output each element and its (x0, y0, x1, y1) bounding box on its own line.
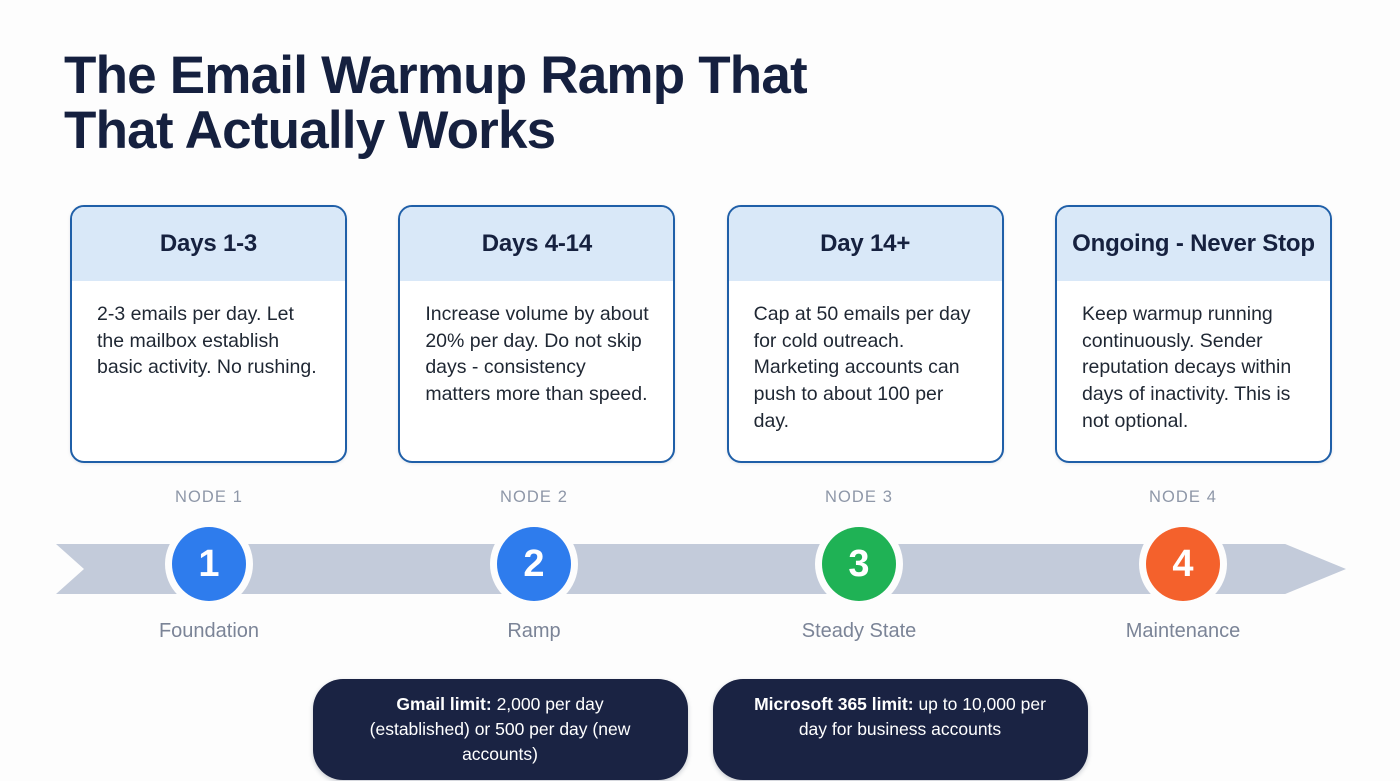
node-circle-wrap: 1 (99, 516, 319, 612)
stage-card-header: Days 4-14 (400, 207, 673, 281)
stage-cards-row: Days 1-3 2-3 emails per day. Let the mai… (70, 205, 1332, 463)
node-circle-badge[interactable]: 3 (822, 527, 896, 601)
node-label: NODE 2 (424, 486, 644, 508)
node-circle-badge[interactable]: 2 (497, 527, 571, 601)
stage-card-title: Days 4-14 (482, 230, 592, 258)
node-caption: Ramp (424, 618, 644, 644)
timeline-node-1[interactable]: NODE 1 1 Foundation (99, 486, 319, 644)
timeline-node-2[interactable]: NODE 2 2 Ramp (424, 486, 644, 644)
timeline: NODE 1 1 Foundation NODE 2 2 Ramp NODE 3… (0, 486, 1400, 656)
stage-card-4: Ongoing - Never Stop Keep warmup running… (1055, 205, 1332, 463)
node-caption: Maintenance (1073, 618, 1293, 644)
node-caption: Steady State (749, 618, 969, 644)
stage-card-2: Days 4-14 Increase volume by about 20% p… (398, 205, 675, 463)
stage-card-body: 2-3 emails per day. Let the mailbox esta… (72, 281, 345, 461)
node-circle-wrap: 3 (749, 516, 969, 612)
badge-label: Microsoft 365 limit: (754, 694, 913, 714)
timeline-node-4[interactable]: NODE 4 4 Maintenance (1073, 486, 1293, 644)
stage-card-title: Day 14+ (820, 230, 910, 258)
stage-card-3: Day 14+ Cap at 50 emails per day for col… (727, 205, 1004, 463)
node-label: NODE 3 (749, 486, 969, 508)
microsoft365-limit-badge: Microsoft 365 limit: up to 10,000 per da… (713, 679, 1088, 780)
stage-card-1: Days 1-3 2-3 emails per day. Let the mai… (70, 205, 347, 463)
stage-card-body: Increase volume by about 20% per day. Do… (400, 281, 673, 461)
node-circle-badge[interactable]: 4 (1146, 527, 1220, 601)
badge-label: Gmail limit: (396, 694, 491, 714)
node-circle-wrap: 4 (1073, 516, 1293, 612)
node-caption: Foundation (99, 618, 319, 644)
limits-badge-row: Gmail limit: 2,000 per day (established)… (0, 679, 1400, 780)
timeline-node-3[interactable]: NODE 3 3 Steady State (749, 486, 969, 644)
node-label: NODE 4 (1073, 486, 1293, 508)
stage-card-body: Keep warmup running continuously. Sender… (1057, 281, 1330, 461)
stage-card-body: Cap at 50 emails per day for cold outrea… (729, 281, 1002, 461)
stage-card-header: Day 14+ (729, 207, 1002, 281)
node-circle-badge[interactable]: 1 (172, 527, 246, 601)
node-circle-wrap: 2 (424, 516, 644, 612)
stage-card-title: Ongoing - Never Stop (1072, 230, 1315, 258)
node-label: NODE 1 (99, 486, 319, 508)
stage-card-header: Days 1-3 (72, 207, 345, 281)
page-title: The Email Warmup Ramp That That Actually… (64, 48, 884, 158)
stage-card-title: Days 1-3 (160, 230, 257, 258)
stage-card-header: Ongoing - Never Stop (1057, 207, 1330, 281)
gmail-limit-badge: Gmail limit: 2,000 per day (established)… (313, 679, 688, 780)
